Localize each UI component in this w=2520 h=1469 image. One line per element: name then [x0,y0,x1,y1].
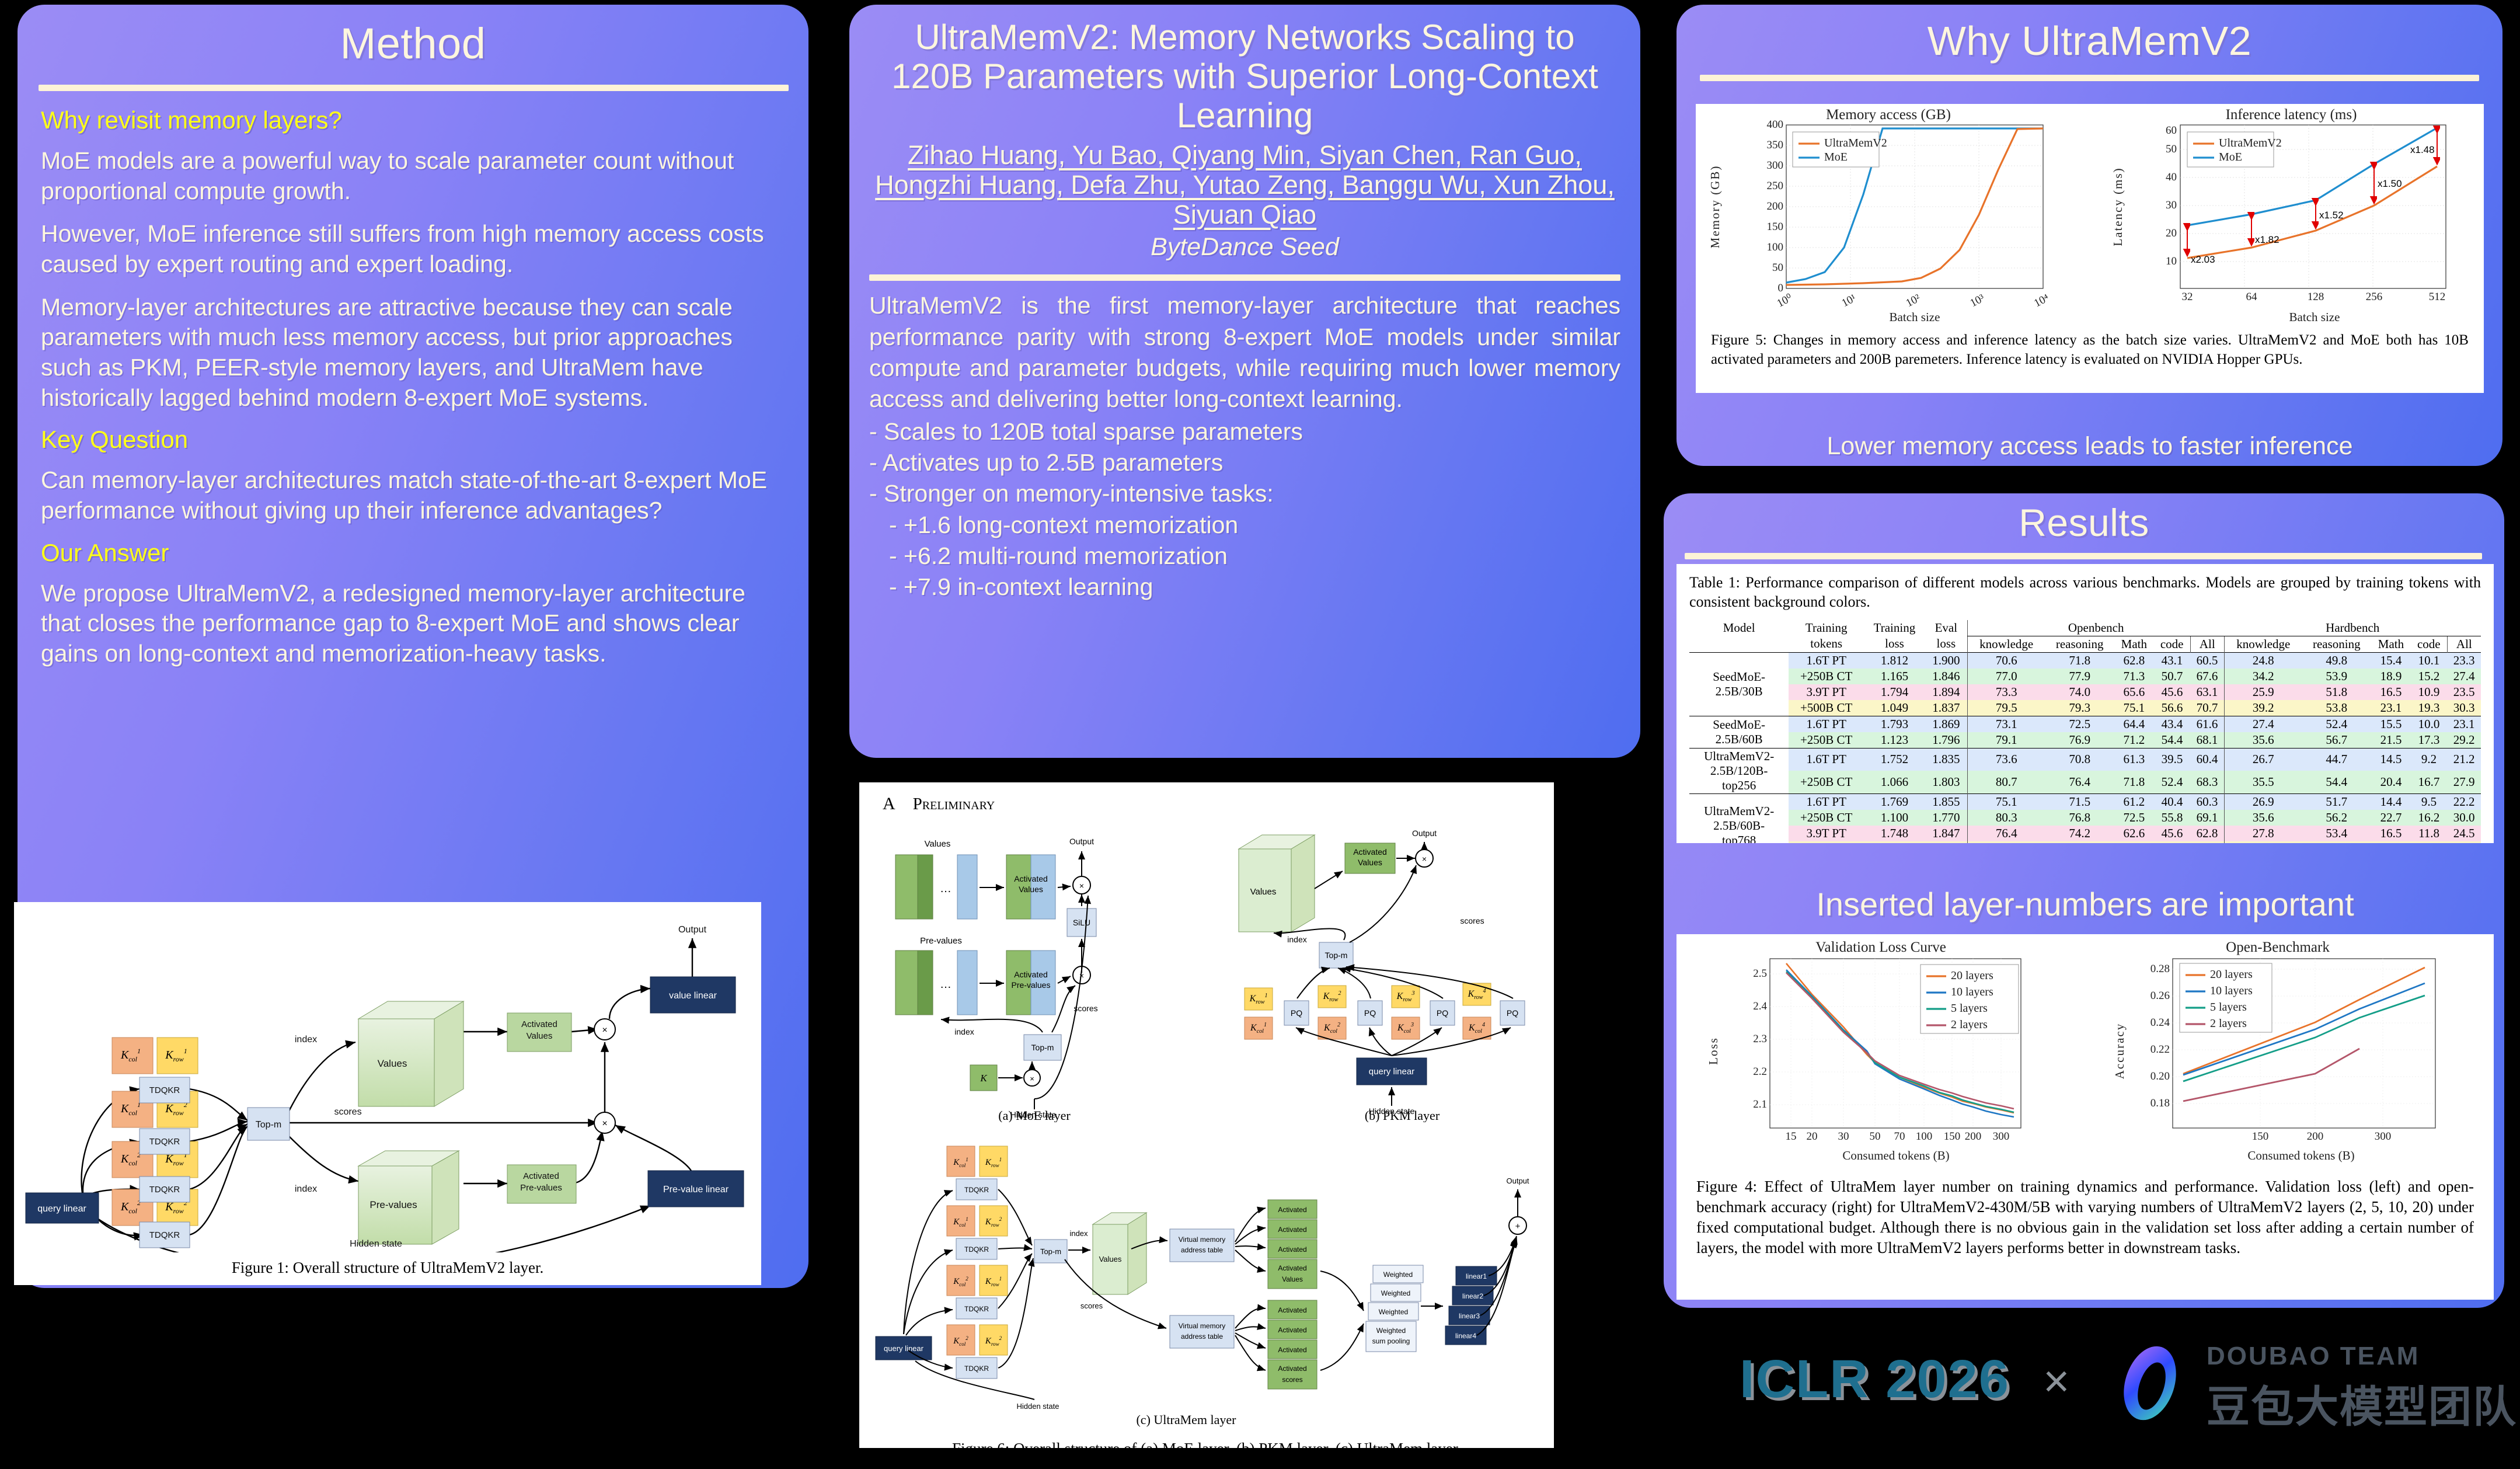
table-cell: 15.5 [2371,716,2411,732]
svg-text:2.2: 2.2 [1753,1066,1767,1078]
annotation-x150: x1.50 [2378,178,2402,189]
th-eval-1: Eval [1925,620,1968,636]
table-cell: 61.6 [2190,716,2224,732]
svg-text:0.28: 0.28 [2150,963,2170,975]
svg-text:address table: address table [1181,1332,1223,1341]
svg-text:linear3: linear3 [1459,1312,1480,1320]
svg-text:20: 20 [1807,1130,1818,1143]
figure6-caption: Figure 6: Overall structure of (a) MoE l… [859,1440,1554,1448]
svg-text:0.26: 0.26 [2150,990,2170,1002]
svg-text:Weighted: Weighted [1379,1308,1408,1316]
table-cell: +250B CT [1789,810,1864,826]
method-heading-key-question: Key Question [41,426,785,454]
method-heading-why: Why revisit memory layers? [41,106,785,134]
table-row: 3.9T PT1.7941.89473.374.065.645.663.125.… [1689,684,2481,700]
table-cell: 1.165 [1864,669,1925,684]
table-cell: 23.8 [2371,841,2411,844]
table-cell: 56.2 [2302,810,2371,826]
bullet-3b: - +6.2 multi-round memorization [889,541,1620,572]
abstract-text: UltraMemV2 is the first memory-layer arc… [849,281,1640,415]
svg-text:100: 100 [1916,1130,1933,1143]
table-cell: +250B CT [1789,669,1864,684]
chart-ob-legend-1: 20 layers [2210,968,2253,981]
table-cell: 76.9 [2045,732,2114,749]
svg-text:Activated: Activated [1278,1245,1306,1254]
table-cell: 1.6T PT [1789,793,1864,810]
table-cell: 73.9 [2114,841,2154,844]
svg-text:50: 50 [2166,143,2177,155]
svg-text:Values: Values [527,1031,553,1041]
th-hb-code: code [2411,636,2447,652]
chart-memory-legend-2: MoE [1824,151,1848,163]
svg-text:10³: 10³ [1968,292,1987,309]
svg-text:300: 300 [1767,159,1784,172]
svg-text:Activated: Activated [1353,847,1387,857]
table-cell: 62.6 [2114,826,2154,841]
svg-text:70: 70 [1894,1130,1905,1143]
svg-text:0.20: 0.20 [2150,1070,2170,1082]
svg-text:TDQKR: TDQKR [964,1305,989,1313]
chart-ob-legend-2: 10 layers [2210,984,2253,997]
table-cell: 1.847 [1925,826,1968,841]
svg-text:PQ: PQ [1291,1008,1302,1018]
svg-text:30: 30 [2166,199,2177,211]
chart-latency-xlabel: Batch size [2289,310,2340,324]
svg-text:Activated: Activated [1278,1364,1306,1373]
figure4-caption: Figure 4: Effect of UltraMem layer numbe… [1676,1171,2494,1258]
table-cell: 52.4 [2154,771,2190,793]
table-cell: 23.3 [2447,652,2481,669]
table-cell: 24.5 [2447,826,2481,841]
cross-symbol: × [2043,1355,2070,1408]
svg-text:Values: Values [925,839,951,849]
svg-text:sum pooling: sum pooling [1372,1337,1410,1345]
svg-text:Output: Output [678,925,707,935]
svg-text:10: 10 [2166,255,2177,267]
table-cell: 53.8 [2302,700,2371,716]
svg-text:Pre-values: Pre-values [920,936,962,946]
table-cell: 71.8 [2114,771,2154,793]
th-hardbench: Hardbench [2224,620,2481,636]
th-eval-loss: loss [1925,636,1968,652]
table-cell: 71.2 [2114,732,2154,749]
table-cell: 80.3 [1967,810,2045,826]
svg-text:10⁴: 10⁴ [2032,292,2051,310]
table-cell: +500B CT [1789,841,1864,844]
table-cell: 80.7 [1967,771,2045,793]
table-cell: 1.793 [1864,716,1925,732]
chart-ob-legend-3: 5 layers [2210,1001,2247,1014]
table-cell: 76.8 [2045,810,2114,826]
th-training-tokens-1: Training [1789,620,1864,636]
svg-text:150: 150 [2252,1130,2269,1143]
table1-card: Table 1: Performance comparison of diffe… [1676,564,2494,843]
table-cell: 71.5 [2045,793,2114,810]
table-cell: 70.8 [2045,748,2114,771]
table-cell: 34.2 [2224,669,2302,684]
table-cell: 61.2 [2114,793,2154,810]
table-row: +250B CT1.1001.77080.376.872.555.869.135… [1689,810,2481,826]
svg-text:2.5: 2.5 [1753,967,1767,980]
table-cell: 29.2 [2447,732,2481,749]
table-cell: 62.8 [2190,826,2224,841]
method-title: Method [18,19,808,68]
svg-text:10¹: 10¹ [1840,292,1859,309]
table-row: 3.9T PT1.7481.84776.474.262.645.662.827.… [1689,826,2481,841]
chart-latency-ylabel: Latency (ms) [2111,167,2125,246]
svg-text:Weighted: Weighted [1376,1327,1406,1335]
svg-text:query linear: query linear [37,1204,86,1214]
svg-text:Top-m: Top-m [1040,1247,1061,1256]
table-cell: 24.8 [2224,652,2302,669]
svg-text:×: × [1030,1074,1034,1083]
th-tokens: tokens [1789,636,1864,652]
table-cell: 1.869 [1925,716,1968,732]
svg-text:Activated: Activated [1278,1226,1306,1234]
svg-text:+: + [1515,1221,1521,1231]
th-hb-knowledge: knowledge [2224,636,2302,652]
table-cell: 0.975 [1864,841,1925,844]
svg-text:TDQKR: TDQKR [964,1364,989,1373]
table-cell: 1.770 [1925,810,1968,826]
table-cell: 23.1 [2371,700,2411,716]
table-cell: 35.5 [2224,771,2302,793]
svg-text:Values: Values [1019,885,1043,894]
svg-text:15: 15 [1786,1130,1797,1143]
svg-text:Pre-value linear: Pre-value linear [663,1185,729,1195]
svg-text:Activated: Activated [1278,1306,1306,1314]
table-cell: 3.9T PT [1789,826,1864,841]
svg-text:TDQKR: TDQKR [149,1137,180,1147]
table-cell: 25.9 [2224,684,2302,700]
table-cell: 38.9 [2224,841,2302,844]
svg-text:Hidden state: Hidden state [1017,1402,1059,1411]
svg-text:linear2: linear2 [1462,1292,1483,1300]
table-cell: 60.3 [2190,793,2224,810]
svg-text:250: 250 [1767,180,1784,192]
method-heading-our-answer: Our Answer [41,539,785,567]
table-cell: 30.3 [2447,700,2481,716]
figure6-subcaption-b: (b) PKM layer [1365,1108,1440,1122]
table-row: UltraMemV2-2.5B/120B-top2561.6T PT1.7521… [1689,748,2481,771]
table-cell: 54.4 [2154,732,2190,749]
table-cell: +250B CT [1789,732,1864,749]
svg-text:…: … [940,882,951,895]
svg-text:×: × [602,1025,607,1035]
table-cell-model: UltraMemV2-2.5B/120B-top256 [1689,748,1789,793]
layers-section-title: Inserted layer-numbers are important [1676,885,2494,923]
table-cell: 60.5 [2190,652,2224,669]
table-cell: 21.2 [2447,748,2481,771]
table-cell: 1.049 [1864,700,1925,716]
svg-text:TDQKR: TDQKR [149,1230,180,1240]
svg-text:×: × [1422,854,1427,864]
table-cell: 69.1 [2190,810,2224,826]
table-row: SeedMoE-2.5B/30B1.6T PT1.8121.90070.671.… [1689,652,2481,669]
th-ob-knowledge: knowledge [1967,636,2045,652]
table-cell: 27.4 [2224,716,2302,732]
svg-text:200: 200 [1767,200,1784,213]
svg-text:query linear: query linear [884,1344,924,1353]
table-cell: 9.5 [2411,793,2447,810]
affiliation: ByteDance Seed [849,233,1640,262]
svg-text:64: 64 [2246,291,2258,303]
table-cell: 1.123 [1864,732,1925,749]
th-ob-math: Math [2114,636,2154,652]
highlight-bullets: - Scales to 120B total sparse parameters… [849,415,1640,603]
svg-text:0.18: 0.18 [2150,1097,2170,1109]
table-cell: 53.9 [2302,669,2371,684]
table-cell: 56.9 [2154,841,2190,844]
table-cell: 21.5 [2371,732,2411,749]
method-title-rule [39,85,789,91]
appendix-section-title: Preliminary [913,795,995,813]
chart-memory-ylabel: Memory (GB) [1708,165,1722,249]
svg-text:index: index [295,1184,317,1194]
svg-text:value linear: value linear [669,991,717,1001]
svg-text:Values: Values [1099,1255,1122,1263]
table-cell: 35.6 [2224,810,2302,826]
svg-text:Pre-values: Pre-values [370,1199,417,1210]
figure1-caption: Figure 1: Overall structure of UltraMemV… [14,1259,761,1277]
table-cell: 1.769 [1864,793,1925,810]
method-para-4: Can memory-layer architectures match sta… [41,465,785,525]
table-cell: 23.1 [2447,716,2481,732]
svg-text:address table: address table [1181,1246,1223,1254]
table-row: +500B CT1.0491.83779.579.375.156.670.739… [1689,700,2481,716]
figure6-top-diagrams: … Values Activated Values … Pre-values A… [859,819,1554,1122]
chart-loss-legend-4: 2 layers [1951,1018,1988,1031]
svg-text:Activated: Activated [1014,970,1048,979]
table-row: +250B CT1.1651.84677.077.971.350.767.634… [1689,669,2481,684]
table-cell: 72.5 [2045,716,2114,732]
svg-text:350: 350 [1767,139,1784,151]
table-cell: 39.2 [2224,700,2302,716]
table-row: +500B CT0.9751.78481.779.073.956.970.738… [1689,841,2481,844]
svg-text:scores: scores [334,1107,361,1117]
svg-text:Output: Output [1506,1176,1529,1185]
svg-text:scores: scores [1073,1004,1097,1013]
svg-text:TDQKR: TDQKR [964,1245,989,1254]
why-takeaway: Lower memory access leads to faster infe… [1693,432,2487,461]
svg-text:Virtual memory: Virtual memory [1179,1322,1225,1330]
svg-text:20: 20 [2166,227,2177,239]
bullet-2: - Activates up to 2.5B parameters [869,447,1620,478]
method-para-2: However, MoE inference still suffers fro… [41,219,785,279]
table1-caption: Table 1: Performance comparison of diffe… [1689,573,2481,612]
title-rule [869,274,1620,281]
why-title: Why UltraMemV2 [1676,18,2502,64]
table-cell: 1.748 [1864,826,1925,841]
table-cell: 16.2 [2411,810,2447,826]
table-cell: 74.0 [2045,684,2114,700]
table-cell: 23.5 [2447,684,2481,700]
table-cell: 74.2 [2045,826,2114,841]
table-cell: 15.2 [2411,669,2447,684]
svg-text:×: × [1079,881,1084,890]
table-cell: 53.4 [2302,826,2371,841]
table-cell: 76.4 [1967,826,2045,841]
chart-memory-title: Memory access (GB) [1826,107,1951,123]
table-cell: 22.7 [2371,810,2411,826]
table-cell: 68.3 [2190,771,2224,793]
svg-text:K: K [980,1073,988,1084]
tdqkr-label: TDQKR [149,1085,180,1095]
table-cell: 9.2 [2411,748,2447,771]
table-cell-model: SeedMoE-2.5B/60B [1689,716,1789,748]
svg-text:10²: 10² [1904,292,1923,309]
table-cell: 79.5 [1967,700,2045,716]
table-cell: 10.0 [2411,716,2447,732]
table-cell: 35.6 [2224,732,2302,749]
annotation-x152: x1.52 [2319,210,2344,221]
svg-text:TDQKR: TDQKR [964,1186,989,1194]
svg-text:scores: scores [1460,916,1484,925]
table-cell: 63.1 [2190,684,2224,700]
table-cell: 1.066 [1864,771,1925,793]
svg-text:Pre-values: Pre-values [520,1183,562,1193]
table1-body: SeedMoE-2.5B/30B1.6T PT1.8121.90070.671.… [1689,652,2481,843]
table-cell: 67.6 [2190,669,2224,684]
table-cell: 26.9 [2224,793,2302,810]
table-cell: 1.835 [1925,748,1968,771]
table-cell: 18.9 [2371,669,2411,684]
table-cell: 51.7 [2302,793,2371,810]
svg-text:Output: Output [1412,829,1437,838]
svg-text:Activated: Activated [1278,1264,1306,1272]
table-cell: 44.7 [2302,748,2371,771]
table-cell: 16.5 [2371,826,2411,841]
table-cell: 51.8 [2302,684,2371,700]
table-row: SeedMoE-2.5B/60B1.6T PT1.7931.86973.172.… [1689,716,2481,732]
table-cell: 43.1 [2154,652,2190,669]
table-cell: 14.5 [2371,748,2411,771]
table-cell: 1.803 [1925,771,1968,793]
table-cell: 81.7 [1967,841,2045,844]
author-list[interactable]: Zihao Huang, Yu Bao, Qiyang Min, Siyan C… [849,135,1640,230]
table-cell: 31.7 [2447,841,2481,844]
svg-text:300: 300 [1993,1130,2010,1143]
chart-latency-legend-2: MoE [2219,151,2242,163]
svg-text:Activated: Activated [1014,874,1048,883]
table-cell: 19.3 [2411,700,2447,716]
doubao-logo-icon [2106,1339,2194,1427]
figure4-charts: Validation Loss Curve 2.12.22.3 2.42.5 [1676,934,2494,1168]
svg-text:0.24: 0.24 [2150,1017,2170,1029]
th-openbench: Openbench [1967,620,2224,636]
footer-logos: ICLR 2026 × DOUBAO TEAM 豆包大模型团队 [1740,1318,2520,1464]
bullet-1: - Scales to 120B total sparse parameters [869,416,1620,447]
svg-text:Top-m: Top-m [1031,1043,1054,1052]
table-cell: 22.2 [2447,793,2481,810]
svg-text:50: 50 [1772,262,1783,274]
table-cell: 73.6 [1967,748,2045,771]
svg-text:2.3: 2.3 [1753,1033,1767,1045]
chart-loss-legend-1: 20 layers [1951,969,1993,982]
table-cell: 27.8 [2224,826,2302,841]
figure6-subcaption-c: (c) UltraMem layer [1136,1412,1236,1427]
table-cell: +250B CT [1789,771,1864,793]
table-cell: 1.812 [1864,652,1925,669]
table-cell: 1.6T PT [1789,748,1864,771]
table-cell: 26.7 [2224,748,2302,771]
table-cell: 70.7 [2190,841,2224,844]
table-cell: 1.855 [1925,793,1968,810]
chart-memory-xlabel: Batch size [1890,310,1940,324]
svg-text:linear1: linear1 [1466,1272,1487,1280]
svg-text:Top-m: Top-m [1325,951,1348,960]
annotation-x182: x1.82 [2255,234,2279,245]
table-cell: 11.8 [2411,826,2447,841]
poster-root: Method Why revisit memory layers? MoE mo… [0,0,2520,1469]
th-ob-all: All [2190,636,2224,652]
annotation-x203: x2.03 [2191,254,2215,265]
iclr-logo: ICLR 2026 [1740,1349,2010,1410]
svg-text:256: 256 [2366,291,2383,303]
chart-latency-legend-1: UltraMemV2 [2219,137,2282,149]
table-cell: 49.8 [2302,652,2371,669]
table-cell: 50.7 [2154,669,2190,684]
table-cell: 71.8 [2045,652,2114,669]
table-cell: 27.9 [2447,771,2481,793]
figure4-card: Validation Loss Curve 2.12.22.3 2.42.5 [1676,934,2494,1300]
table-cell: 1.900 [1925,652,1968,669]
title-panel: UltraMemV2: Memory Networks Scaling to 1… [849,5,1640,758]
svg-text:Pre-values: Pre-values [1012,980,1051,990]
svg-text:150: 150 [1944,1130,1961,1143]
table-cell: 45.6 [2154,684,2190,700]
svg-text:150: 150 [1767,221,1784,233]
table-cell: 54.4 [2302,771,2371,793]
table-cell: 77.9 [2045,669,2114,684]
chart-ob-legend-4: 2 layers [2210,1017,2247,1030]
svg-text:Weighted: Weighted [1381,1289,1410,1297]
svg-text:PQ: PQ [1507,1008,1518,1018]
table-cell: 3.9T PT [1789,684,1864,700]
svg-text:Top-m: Top-m [256,1120,281,1130]
svg-text:Values: Values [1358,858,1382,867]
svg-text:TDQKR: TDQKR [149,1185,180,1195]
table-cell: 39.5 [2154,748,2190,771]
figure1-card: Kcol1 Krow1 Kcol1 Krow2 Kcol2 Krow1 Kcol… [14,902,761,1285]
table-row: +250B CT1.1231.79679.176.971.254.468.135… [1689,732,2481,749]
table-cell: 79.3 [2045,700,2114,716]
svg-text:index: index [1069,1229,1088,1238]
table-cell: 76.4 [2045,771,2114,793]
chart-memory-legend-1: UltraMemV2 [1824,137,1887,149]
table-cell: 64.4 [2114,716,2154,732]
svg-text:50: 50 [1870,1130,1881,1143]
table1-header-row-2: tokens loss loss knowledge reasoning Mat… [1689,636,2481,652]
figure6-card: A Preliminary … Values Activated Values … [859,782,1554,1448]
table-cell-model: UltraMemV2-2.5B/60B-top768 [1689,793,1789,843]
svg-text:2.1: 2.1 [1753,1098,1767,1111]
svg-text:200: 200 [1965,1130,1982,1143]
table-cell: 27.4 [2447,669,2481,684]
svg-text:…: … [940,978,951,991]
svg-text:100: 100 [1767,241,1784,253]
th-loss: loss [1864,636,1925,652]
th-hb-math: Math [2371,636,2411,652]
svg-text:Activated: Activated [1278,1326,1306,1334]
figure1-diagram: Kcol1 Krow1 Kcol1 Krow2 Kcol2 Krow1 Kcol… [14,902,761,1252]
table-cell: 1.6T PT [1789,716,1864,732]
chart-ob-xlabel: Consumed tokens (B) [2247,1148,2354,1162]
svg-text:scores: scores [1081,1301,1103,1310]
table-cell: 15.4 [2371,652,2411,669]
svg-text:Virtual memory: Virtual memory [1179,1235,1225,1244]
table-cell: 20.4 [2371,771,2411,793]
